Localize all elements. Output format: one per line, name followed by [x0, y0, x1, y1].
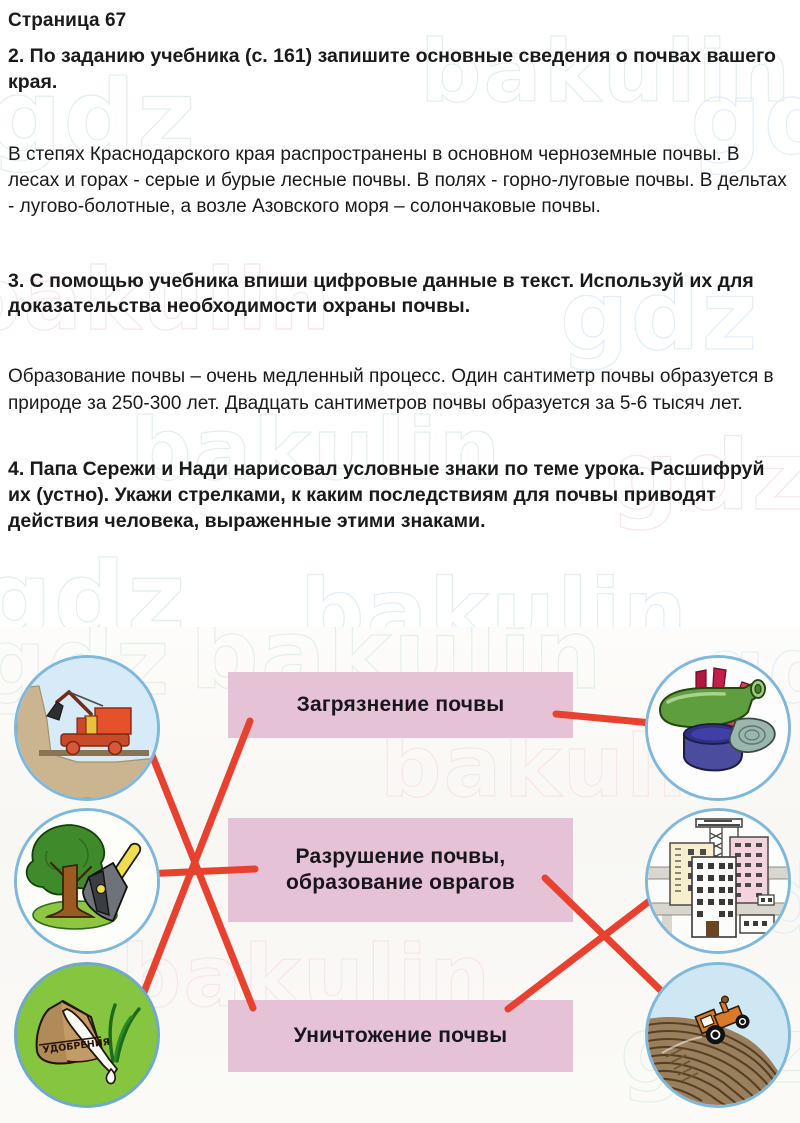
tractor-plowing-slope-icon[interactable] — [645, 962, 791, 1108]
task-4-question: 4. Папа Сережи и Нади нарисовал условные… — [8, 457, 792, 535]
label-destruction[interactable]: Разрушение почвы, образование оврагов — [228, 818, 573, 922]
worksheet-text: Страница 67 2. По заданию учебника (с. 1… — [0, 0, 800, 535]
task-2-question: 2. По заданию учебника (с. 161) запишите… — [8, 44, 792, 96]
garbage-bottle-can-icon[interactable] — [645, 655, 791, 801]
task-3-answer: Образование почвы – очень медленный проц… — [8, 364, 792, 416]
plowing-illustration — [648, 965, 788, 1105]
city-construction-crane-icon[interactable] — [645, 808, 791, 954]
task-3-question: 3. С помощью учебника впиши цифровые дан… — [8, 269, 792, 321]
label-annihilation[interactable]: Уничтожение почвы — [228, 1000, 573, 1072]
tree-with-axe-icon[interactable] — [14, 808, 160, 954]
fertilizer-sack-illustration: УДОБРЕНИЯ — [17, 965, 157, 1105]
page-title: Страница 67 — [8, 10, 792, 32]
label-pollution[interactable]: Загрязнение почвы — [228, 672, 573, 738]
tree-axe-illustration — [17, 811, 157, 951]
fertilizer-sack-icon[interactable]: УДОБРЕНИЯ — [14, 962, 160, 1108]
task-2-answer: В степях Краснодарского края распростран… — [8, 142, 792, 221]
garbage-illustration — [648, 658, 788, 798]
city-illustration — [648, 811, 788, 951]
excavator-illustration — [17, 658, 157, 798]
excavator-digging-soil-icon[interactable] — [14, 655, 160, 801]
